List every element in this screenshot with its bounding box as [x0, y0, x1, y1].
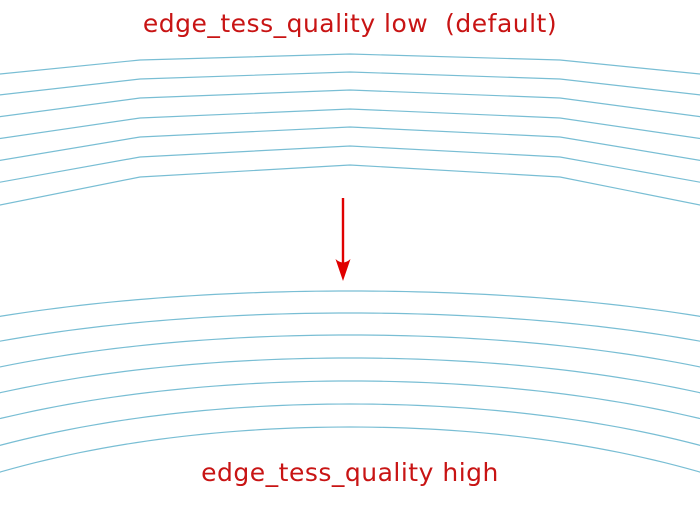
low-quality-curve [0, 72, 700, 96]
low-quality-curve-group [0, 54, 700, 207]
low-quality-curve [0, 127, 700, 162]
high-quality-curve [0, 358, 700, 395]
high-quality-curve-group [0, 291, 700, 475]
caption-low-quality: edge_tess_quality low (default) [0, 9, 700, 38]
high-quality-curve [0, 291, 700, 318]
low-quality-curve [0, 109, 700, 140]
high-quality-curve [0, 313, 700, 343]
high-quality-curve [0, 381, 700, 421]
high-quality-curve [0, 404, 700, 448]
caption-high-quality: edge_tess_quality high [0, 458, 700, 487]
low-quality-curve [0, 90, 700, 118]
low-quality-curve [0, 165, 700, 207]
high-quality-curve [0, 335, 700, 369]
tessellation-comparison-figure: edge_tess_quality low (default) edge_tes… [0, 0, 700, 506]
downward-arrow [336, 198, 351, 281]
curve-canvas [0, 0, 700, 506]
